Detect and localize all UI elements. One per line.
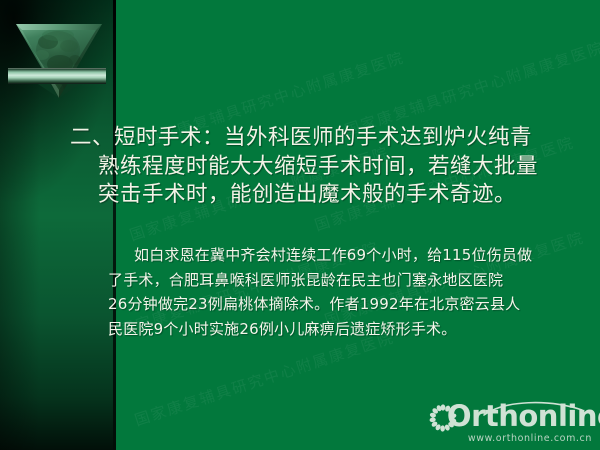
brand-logo-row: Orthonline <box>428 402 583 433</box>
presentation-slide: 国家康复辅具研究中心附属康复医院 国家康复辅具研究中心附属康复医院 国家康复辅具… <box>0 0 600 450</box>
slide-body-text: 如白求恩在冀中齐会村连续工作69个小时，给115位伤员做 了手术，合肥耳鼻喉科医… <box>108 243 588 341</box>
brand-watermark: Orthonline www.orthonline.com.cn <box>428 402 592 444</box>
body-line-2: 了手术，合肥耳鼻喉科医师张昆龄在民主也门塞永地区医院 <box>108 268 588 293</box>
brand-name: Orthonline <box>447 401 600 432</box>
body-line-3: 26分钟做完23例扁桃体摘除术。作者1992年在北京密云县人 <box>108 292 588 317</box>
title-line-2: 熟练程度时能大大缩短手术时间，若缝大批量 <box>70 153 580 182</box>
body-line-4: 民医院9个小时实施26例小儿麻痹后遗症矫形手术。 <box>108 317 588 342</box>
title-line-3: 突击手术时，能创造出魔术般的手术奇迹。 <box>70 181 580 210</box>
body-line-1: 如白求恩在冀中齐会村连续工作69个小时，给115位伤员做 <box>108 243 588 268</box>
brand-url: www.orthonline.com.cn <box>428 433 592 444</box>
inverted-triangle-logo-icon <box>12 20 106 102</box>
slide-title: 二、短时手术：当外科医师的手术达到炉火纯青 熟练程度时能大大缩短手术时间，若缝大… <box>70 124 580 210</box>
title-line-1: 二、短时手术：当外科医师的手术达到炉火纯青 <box>70 124 580 153</box>
sidebar-edge-divider <box>113 0 116 450</box>
logo-metal-bar <box>8 68 106 84</box>
